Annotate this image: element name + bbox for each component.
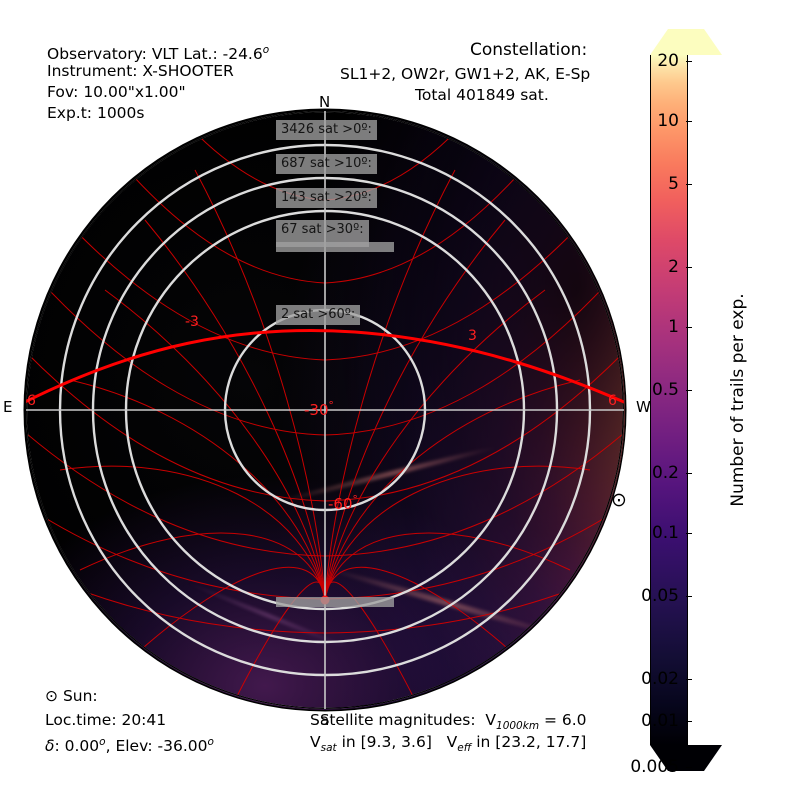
colorbar-tick-label: 0.5 xyxy=(652,380,679,400)
constellation-names: SL1+2, OW2r, GW1+2, AK, E-Sp xyxy=(340,64,590,85)
colorbar-tick-label: 0.01 xyxy=(641,711,679,731)
colorbar-tick: 0.005 xyxy=(686,767,692,768)
colorbar-tick: 2 xyxy=(686,267,692,268)
local-time-line: Loc.time: 20:41 xyxy=(45,710,166,731)
ra-label-plus3: 3 xyxy=(468,328,477,344)
colorbar-tick-label: 0.2 xyxy=(652,463,679,483)
sun-icon: ⊙ xyxy=(45,687,58,705)
colorbar-tick: 0.01 xyxy=(686,721,692,722)
colorbar-tick-label: 0.02 xyxy=(641,669,679,689)
colorbar-tick-label: 0.005 xyxy=(630,757,679,777)
colorbar-tick: 20 xyxy=(686,61,692,62)
fov-line: Fov: 10.00"x1.00" xyxy=(47,82,186,103)
dec-label-minus30: -30° xyxy=(304,400,334,419)
cardinal-west: W xyxy=(636,398,651,416)
ra-label-east: 6 xyxy=(27,393,36,409)
sun-position-marker: ⊙ xyxy=(611,489,627,511)
sat-count-band-lower xyxy=(276,597,394,607)
vsat-veff-line: Vsat in [9.3, 3.6] Veff in [23.2, 17.7] xyxy=(310,732,586,759)
sat-count-20deg: 143 sat >20º: xyxy=(276,188,377,208)
ra-label-minus3: -3 xyxy=(185,314,199,330)
dec-label-minus60: -60° xyxy=(328,494,358,513)
colorbar-axis-title: Number of trails per exp. xyxy=(728,293,748,506)
colorbar-tick: 0.05 xyxy=(686,596,692,597)
constellation-total: Total 401849 sat. xyxy=(415,85,549,106)
colorbar-tick: 0.5 xyxy=(686,390,692,391)
cardinal-east: E xyxy=(3,398,12,416)
constellation-title: Constellation: xyxy=(470,40,587,60)
colorbar-tick: 5 xyxy=(686,184,692,185)
colorbar-tick: 0.1 xyxy=(686,533,692,534)
ra-label-west: 6 xyxy=(608,393,617,409)
instrument-line: Instrument: X-SHOOTER xyxy=(47,61,234,82)
colorbar-tick-label: 2 xyxy=(668,257,679,277)
sun-footer-title: ⊙ Sun: xyxy=(45,686,98,707)
colorbar-tick-label: 0.05 xyxy=(641,586,679,606)
colorbar-tick-label: 1 xyxy=(668,317,679,337)
sun-delta-elev-line: δ: 0.00o, Elev: -36.00o xyxy=(45,732,214,757)
colorbar-tick: 1 xyxy=(686,327,692,328)
sat-count-band-extra xyxy=(276,242,394,252)
colorbar-tick-label: 20 xyxy=(657,51,679,71)
sat-count-0deg: 3426 sat >0º: xyxy=(276,120,377,140)
sat-count-10deg: 687 sat >10º: xyxy=(276,154,377,174)
colorbar-tick: 0.2 xyxy=(686,473,692,474)
cardinal-north: N xyxy=(319,93,330,111)
colorbar-tick: 0.02 xyxy=(686,679,692,680)
colorbar-tick-label: 0.1 xyxy=(652,523,679,543)
colorbar-tick-label: 10 xyxy=(657,111,679,131)
sky-plot[interactable]: -3 3 6 6 -30° -60° 3426 sat >0º: 687 sat… xyxy=(25,110,625,710)
colorbar[interactable]: 20 10 5 2 1 0.5 0.2 0.1 0.05 0.02 0.01 0… xyxy=(650,55,686,745)
colorbar-tick-label: 5 xyxy=(668,174,679,194)
colorbar-tick: 10 xyxy=(686,121,692,122)
sat-count-60deg: 2 sat >60º: xyxy=(276,305,360,325)
colorbar-gradient xyxy=(650,55,688,745)
